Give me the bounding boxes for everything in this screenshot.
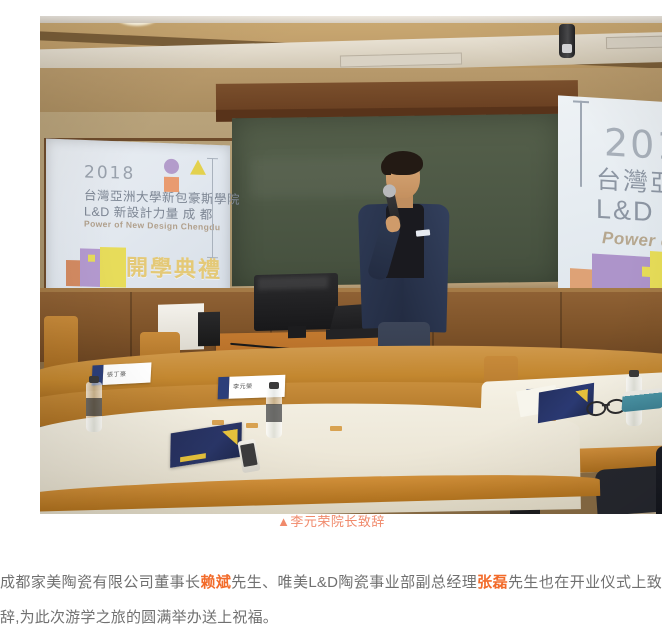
desk-clip xyxy=(330,426,342,431)
computer-monitor xyxy=(254,273,338,331)
seated-attendee xyxy=(656,446,662,514)
smartphone-teal xyxy=(621,388,662,413)
left-screen-artwork xyxy=(66,246,126,288)
article-page: 2018 台灣亞洲大學新包豪斯學院 L&D 新設計力量 成 都 Power of… xyxy=(0,0,662,634)
highlighted-name-zhang-lei: 张磊 xyxy=(477,574,508,591)
hair xyxy=(383,151,423,175)
speaker-box xyxy=(198,312,220,346)
paragraph-part-1: 成都家美陶瓷有限公司董事长 xyxy=(0,574,200,591)
lecture-hall-photo: 2018 台灣亞洲大學新包豪斯學院 L&D 新設計力量 成 都 Power of… xyxy=(40,16,662,514)
square-shape-icon xyxy=(164,177,179,192)
photo-caption: ▲李元荣院长致辞 xyxy=(0,512,662,532)
article-photo-figure: 2018 台灣亞洲大學新包豪斯學院 L&D 新設計力量 成 都 Power of… xyxy=(40,16,662,514)
dark-corner-shadow xyxy=(594,466,659,514)
monitor-stand xyxy=(288,326,306,338)
article-paragraph: 成都家美陶瓷有限公司董事长赖斌先生、唯美L&D陶瓷事业部副总经理张磊先生也在开业… xyxy=(0,565,662,635)
left-screen-shapes xyxy=(164,159,230,197)
name-card-label: 李元榮 xyxy=(233,381,253,391)
water-bottle xyxy=(86,382,102,432)
ceiling-vent-right xyxy=(606,35,662,49)
left-screen-rule xyxy=(212,158,213,258)
ceiling-top-edge xyxy=(40,16,662,23)
desk-clip xyxy=(246,423,258,428)
left-screen-year: 2018 xyxy=(84,162,135,183)
triangle-shape-icon xyxy=(190,159,206,174)
paragraph-part-2: 先生、唯美L&D陶瓷事业部副总经理 xyxy=(231,574,477,591)
right-screen-rule xyxy=(580,101,582,187)
name-card-label: 張丁豪 xyxy=(107,369,127,379)
left-screen-ceremony-title: 開學典禮 xyxy=(126,250,222,285)
highlighted-name-lai-bin: 赖斌 xyxy=(200,574,231,591)
circle-shape-icon xyxy=(164,159,179,174)
water-bottle xyxy=(266,388,282,438)
security-camera-icon xyxy=(559,24,575,58)
right-screen-title-line2: L&D xyxy=(596,194,655,229)
